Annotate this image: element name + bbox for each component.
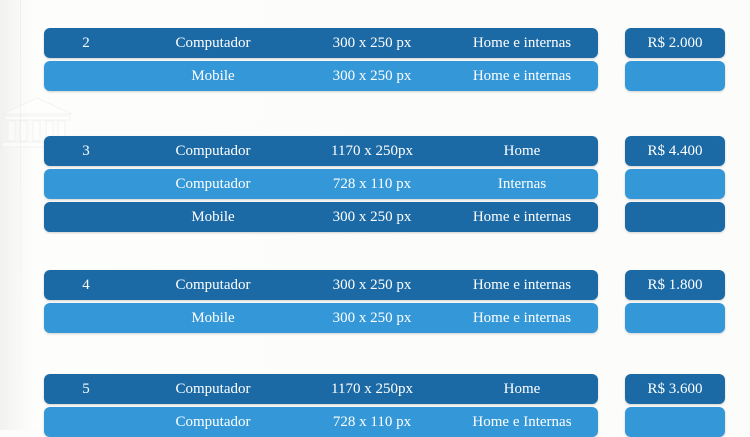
table-row[interactable]: 5Computador1170 x 250pxHome xyxy=(44,374,598,404)
cell-device: Mobile xyxy=(128,202,298,232)
cell-device: Computador xyxy=(128,136,298,166)
price-cell-filler[interactable] xyxy=(625,61,725,91)
cell-number xyxy=(44,202,128,232)
cell-size: 300 x 250 px xyxy=(298,303,446,333)
price-cell[interactable]: R$ 4.400 xyxy=(625,136,725,166)
price-label: R$ 2.000 xyxy=(625,28,725,58)
table-row[interactable]: 3Computador1170 x 250pxHome xyxy=(44,136,598,166)
table-row[interactable]: 4Computador300 x 250 pxHome e internas xyxy=(44,270,598,300)
cell-placement: Home e internas xyxy=(446,303,598,333)
cell-number: 3 xyxy=(44,136,128,166)
cell-placement: Internas xyxy=(446,169,598,199)
cell-placement: Home xyxy=(446,136,598,166)
cell-size: 300 x 250 px xyxy=(298,202,446,232)
cell-placement: Home e internas xyxy=(446,61,598,91)
cell-device: Computador xyxy=(128,407,298,437)
price-cell[interactable]: R$ 3.600 xyxy=(625,374,725,404)
price-cell[interactable]: R$ 1.800 xyxy=(625,270,725,300)
price-cell-filler[interactable] xyxy=(625,169,725,199)
cell-device: Mobile xyxy=(128,303,298,333)
table-row[interactable]: Mobile300 x 250 pxHome e internas xyxy=(44,303,598,333)
cell-number: 4 xyxy=(44,270,128,300)
cell-size: 728 x 110 px xyxy=(298,169,446,199)
cell-number: 2 xyxy=(44,28,128,58)
cell-size: 1170 x 250px xyxy=(298,374,446,404)
cell-device: Computador xyxy=(128,374,298,404)
cell-placement: Home e internas xyxy=(446,28,598,58)
cell-placement: Home e internas xyxy=(446,202,598,232)
cell-number xyxy=(44,303,128,333)
cell-device: Mobile xyxy=(128,61,298,91)
cell-placement: Home e internas xyxy=(446,270,598,300)
price-cell-filler[interactable] xyxy=(625,303,725,333)
cell-device: Computador xyxy=(128,270,298,300)
cell-size: 1170 x 250px xyxy=(298,136,446,166)
cell-number xyxy=(44,407,128,437)
price-cell-filler[interactable] xyxy=(625,407,725,437)
cell-number xyxy=(44,169,128,199)
cell-placement: Home e Internas xyxy=(446,407,598,437)
media-pricing-table: 2Computador300 x 250 pxHome e internasR$… xyxy=(0,0,750,430)
cell-device: Computador xyxy=(128,169,298,199)
cell-size: 300 x 250 px xyxy=(298,270,446,300)
table-row[interactable]: Mobile300 x 250 pxHome e internas xyxy=(44,61,598,91)
cell-size: 728 x 110 px xyxy=(298,407,446,437)
price-label: R$ 4.400 xyxy=(625,136,725,166)
price-label: R$ 1.800 xyxy=(625,270,725,300)
table-row[interactable]: 2Computador300 x 250 pxHome e internas xyxy=(44,28,598,58)
cell-placement: Home xyxy=(446,374,598,404)
price-cell-filler[interactable] xyxy=(625,202,725,232)
cell-size: 300 x 250 px xyxy=(298,28,446,58)
table-row[interactable]: Mobile300 x 250 pxHome e internas xyxy=(44,202,598,232)
cell-size: 300 x 250 px xyxy=(298,61,446,91)
table-row[interactable]: Computador728 x 110 pxHome e Internas xyxy=(44,407,598,437)
cell-number: 5 xyxy=(44,374,128,404)
table-row[interactable]: Computador728 x 110 pxInternas xyxy=(44,169,598,199)
cell-device: Computador xyxy=(128,28,298,58)
price-label: R$ 3.600 xyxy=(625,374,725,404)
price-cell[interactable]: R$ 2.000 xyxy=(625,28,725,58)
cell-number xyxy=(44,61,128,91)
